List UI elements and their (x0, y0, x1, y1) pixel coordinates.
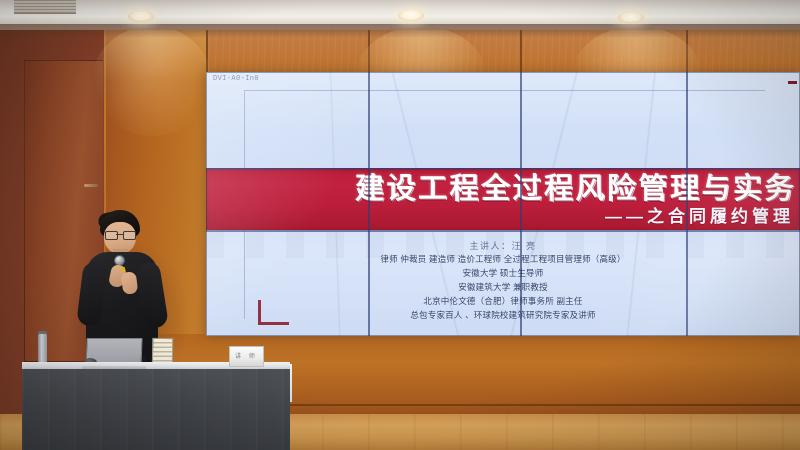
credit-line: 安徽建筑大学 兼职教授 (206, 280, 800, 294)
table-skirt-folds (22, 369, 290, 450)
ceiling-downlight-icon (398, 10, 424, 21)
credit-line: 主讲人：汪 亮 (206, 240, 800, 253)
speaker-nameplate: 讲 师 (229, 346, 264, 367)
ceiling-downlight-icon (128, 11, 154, 22)
slide-corner-pip (788, 81, 797, 84)
credit-line: 律师 仲裁员 建造师 造价工程师 全过程工程项目管理师（高级） (206, 253, 800, 266)
slide-title-banner: 建设工程全过程风险管理与实务 ——之合同履约管理 (206, 168, 800, 230)
glasses-lens (105, 231, 118, 240)
glasses-lens (123, 231, 136, 240)
presenter-hand-right (121, 271, 139, 295)
ceiling-vent-icon (14, 0, 76, 14)
videowall-bezel-vertical (368, 72, 370, 336)
glasses-bridge (116, 234, 123, 235)
videowall-bezel-horizontal (206, 168, 800, 170)
credit-line: 北京中伦文德（合肥）律师事务所 副主任 (206, 294, 800, 308)
videowall-bezel-vertical (520, 72, 522, 336)
presentation-slide: DVI-A0-In0 建设工程全过程风险管理与实务 ——之合同履约管理 主讲人：… (206, 72, 800, 336)
video-source-label: DVI-A0-In0 (213, 75, 259, 83)
nameplate-text: 讲 师 (230, 351, 263, 360)
glasses-icon (105, 231, 135, 238)
ceiling-downlight-icon (618, 12, 644, 23)
presenter-badge (121, 267, 125, 271)
lecture-room-photo: DVI-A0-In0 建设工程全过程风险管理与实务 ——之合同履约管理 主讲人：… (0, 0, 800, 450)
video-wall-display[interactable]: DVI-A0-In0 建设工程全过程风险管理与实务 ——之合同履约管理 主讲人：… (206, 72, 800, 336)
ceiling-shadow (0, 24, 800, 38)
videowall-bezel-vertical (686, 72, 688, 336)
slide-credits: 主讲人：汪 亮 律师 仲裁员 建造师 造价工程师 全过程工程项目管理师（高级） … (206, 238, 800, 322)
videowall-bezel-horizontal (206, 230, 800, 232)
slide-title: 建设工程全过程风险管理与实务 (355, 172, 796, 206)
credit-line: 安徽大学 硕士生导师 (206, 266, 800, 280)
credit-line: 总包专家百人 、环球院校建筑研究院专家及讲师 (206, 308, 800, 322)
door-handle-icon (84, 184, 98, 187)
slide-subtitle: ——之合同履约管理 (605, 206, 794, 227)
